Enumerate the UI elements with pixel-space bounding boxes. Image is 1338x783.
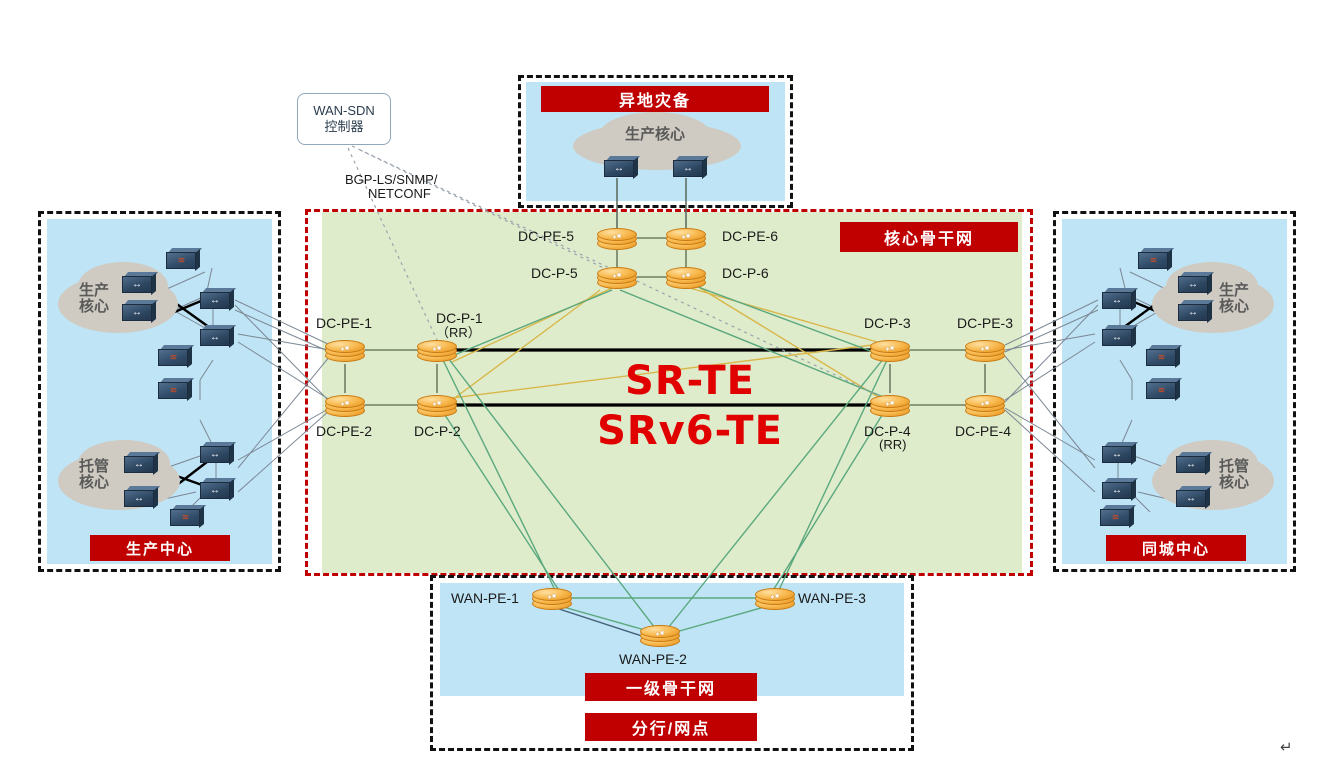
switch-left-agg-2: ↔ xyxy=(200,325,234,347)
switch-glyph: ↔ xyxy=(608,162,630,175)
switch-left-prod-2: ↔ xyxy=(122,300,156,322)
label-srv6-te: SRv6-TE xyxy=(545,408,835,454)
switch-left-agg-4: ↔ xyxy=(200,478,234,500)
switch-left-host-1: ↔ xyxy=(124,452,158,474)
banner-core-backbone: 核心骨干网 xyxy=(840,222,1018,252)
cloud-label-right-production-core: 生产 核心 xyxy=(1208,283,1260,315)
firewall-glyph: ≋ xyxy=(162,351,184,364)
cloud-label-line2: 核心 xyxy=(1219,298,1249,315)
router-glyph: ⁎⁕ xyxy=(333,398,357,409)
wan-sdn-controller[interactable]: WAN-SDN 控制器 xyxy=(297,93,391,145)
cloud-label-line2: 核心 xyxy=(79,474,109,491)
label-dc-p-2: DC-P-2 xyxy=(414,424,461,439)
label-dc-p-1-rr: （RR） xyxy=(436,326,481,340)
router-dc-pe-1[interactable]: ⁎⁕ xyxy=(325,336,365,364)
switch-glyph: ↔ xyxy=(126,278,148,291)
top-artifact xyxy=(300,8,304,23)
firewall-left-4: ≋ xyxy=(170,505,204,527)
router-glyph: ⁎⁕ xyxy=(425,398,449,409)
switch-glyph: ↔ xyxy=(204,294,226,307)
firewall-right-4: ≋ xyxy=(1100,505,1134,527)
router-glyph: ⁎⁕ xyxy=(540,591,564,602)
firewall-left-2: ≋ xyxy=(158,345,192,367)
firewall-glyph: ≋ xyxy=(1142,254,1164,267)
cloud-label-line1: 托管 xyxy=(1219,458,1249,475)
switch-left-agg-1: ↔ xyxy=(200,288,234,310)
firewall-right-1: ≋ xyxy=(1138,248,1172,270)
router-dc-p-2[interactable]: ⁎⁕ xyxy=(417,391,457,419)
switch-right-agg-4: ↔ xyxy=(1102,478,1136,500)
switch-glyph: ↔ xyxy=(126,306,148,319)
router-glyph: ⁎⁕ xyxy=(333,343,357,354)
firewall-right-2: ≋ xyxy=(1146,345,1180,367)
protocol-label-line2: NETCONF xyxy=(368,186,431,202)
switch-glyph: ↔ xyxy=(204,448,226,461)
switch-glyph: ↔ xyxy=(1106,484,1128,497)
router-glyph: ⁎⁕ xyxy=(878,343,902,354)
label-dc-pe-1: DC-PE-1 xyxy=(316,316,372,331)
switch-glyph: ↔ xyxy=(204,331,226,344)
label-dc-pe-3: DC-PE-3 xyxy=(957,316,1013,331)
firewall-glyph: ≋ xyxy=(1150,384,1172,397)
cloud-label-left-hosting-core: 托管 核心 xyxy=(68,459,120,491)
router-dc-p-4[interactable]: ⁎⁕ xyxy=(870,391,910,419)
banner-branch-outlet: 分行/网点 xyxy=(585,713,757,741)
router-dc-p-3[interactable]: ⁎⁕ xyxy=(870,336,910,364)
controller-title-line1: WAN-SDN xyxy=(313,103,375,119)
label-wan-pe-3: WAN-PE-3 xyxy=(798,591,866,606)
firewall-glyph: ≋ xyxy=(162,384,184,397)
router-wan-pe-1[interactable]: ⁎⁕ xyxy=(532,584,572,612)
cloud-label-line2: 核心 xyxy=(1219,474,1249,491)
router-glyph: ⁎⁕ xyxy=(674,270,698,281)
firewall-glyph: ≋ xyxy=(170,254,192,267)
firewall-glyph: ≋ xyxy=(174,511,196,524)
router-glyph: ⁎⁕ xyxy=(425,343,449,354)
switch-glyph: ↔ xyxy=(128,492,150,505)
cloud-label-line1: 生产 xyxy=(1219,282,1249,299)
switch-right-host-1: ↔ xyxy=(1176,452,1210,474)
label-dc-p-5: DC-P-5 xyxy=(531,266,578,281)
banner-metro-center: 同城中心 xyxy=(1106,535,1246,561)
switch-dr-2: ↔ xyxy=(673,156,707,178)
router-glyph: ⁎⁕ xyxy=(648,628,672,639)
firewall-left-1: ≋ xyxy=(166,248,200,270)
switch-glyph: ↔ xyxy=(1180,492,1202,505)
router-dc-p-5[interactable]: ⁎⁕ xyxy=(597,263,637,291)
switch-glyph: ↔ xyxy=(1106,294,1128,307)
label-dc-pe-2: DC-PE-2 xyxy=(316,424,372,439)
firewall-glyph: ≋ xyxy=(1104,511,1126,524)
banner-production-center: 生产中心 xyxy=(90,535,230,561)
router-glyph: ⁎⁕ xyxy=(878,398,902,409)
switch-glyph: ↔ xyxy=(1106,448,1128,461)
switch-glyph: ↔ xyxy=(1180,458,1202,471)
router-glyph: ⁎⁕ xyxy=(973,343,997,354)
cloud-label-line1: 生产 xyxy=(79,282,109,299)
switch-glyph: ↔ xyxy=(1182,306,1204,319)
router-dc-pe-6[interactable]: ⁎⁕ xyxy=(666,224,706,252)
firewall-left-3: ≋ xyxy=(158,378,192,400)
label-dc-pe-4: DC-PE-4 xyxy=(955,424,1011,439)
switch-right-prod-1: ↔ xyxy=(1178,272,1212,294)
pilcrow-mark: ↵ xyxy=(1280,738,1293,756)
switch-dr-1: ↔ xyxy=(604,156,638,178)
switch-glyph: ↔ xyxy=(1106,331,1128,344)
router-wan-pe-2[interactable]: ⁎⁕ xyxy=(640,621,680,649)
banner-remote-dr: 异地灾备 xyxy=(541,86,769,112)
switch-right-agg-3: ↔ xyxy=(1102,442,1136,464)
router-dc-pe-2[interactable]: ⁎⁕ xyxy=(325,391,365,419)
switch-glyph: ↔ xyxy=(204,484,226,497)
firewall-right-3: ≋ xyxy=(1146,378,1180,400)
controller-title-line2: 控制器 xyxy=(324,119,363,135)
switch-left-agg-3: ↔ xyxy=(200,442,234,464)
router-glyph: ⁎⁕ xyxy=(973,398,997,409)
label-dc-p-1: DC-P-1 xyxy=(436,311,483,326)
switch-right-agg-1: ↔ xyxy=(1102,288,1136,310)
cloud-label-dr-production-core: 生产核心 xyxy=(603,127,707,143)
router-dc-p-1[interactable]: ⁎⁕ xyxy=(417,336,457,364)
router-dc-pe-4[interactable]: ⁎⁕ xyxy=(965,391,1005,419)
label-dc-pe-5: DC-PE-5 xyxy=(518,229,574,244)
cloud-label-line1: 托管 xyxy=(79,458,109,475)
cloud-label-right-hosting-core: 托管 核心 xyxy=(1208,459,1260,491)
firewall-glyph: ≋ xyxy=(1150,351,1172,364)
router-glyph: ⁎⁕ xyxy=(674,231,698,242)
switch-glyph: ↔ xyxy=(1182,278,1204,291)
label-wan-pe-2: WAN-PE-2 xyxy=(619,652,687,667)
switch-right-prod-2: ↔ xyxy=(1178,300,1212,322)
switch-left-prod-1: ↔ xyxy=(122,272,156,294)
label-dc-p-6: DC-P-6 xyxy=(722,266,769,281)
router-dc-p-6[interactable]: ⁎⁕ xyxy=(666,263,706,291)
switch-right-agg-2: ↔ xyxy=(1102,325,1136,347)
network-diagram: 异地灾备 生产核心 ↔ ↔ 核心骨干网 SR-TE SRv6-TE ⁎⁕ ⁎⁕ … xyxy=(0,0,1338,783)
router-glyph: ⁎⁕ xyxy=(605,270,629,281)
banner-primary-backbone: 一级骨干网 xyxy=(585,673,757,701)
router-wan-pe-3[interactable]: ⁎⁕ xyxy=(755,584,795,612)
cloud-label-left-production-core: 生产 核心 xyxy=(68,283,120,315)
router-glyph: ⁎⁕ xyxy=(763,591,787,602)
router-dc-pe-5[interactable]: ⁎⁕ xyxy=(597,224,637,252)
label-wan-pe-1: WAN-PE-1 xyxy=(451,591,519,606)
label-dc-pe-6: DC-PE-6 xyxy=(722,229,778,244)
label-sr-te: SR-TE xyxy=(565,358,815,404)
switch-left-host-2: ↔ xyxy=(124,486,158,508)
label-dc-p-4-rr: (RR) xyxy=(879,438,906,452)
router-glyph: ⁎⁕ xyxy=(605,231,629,242)
label-dc-p-3: DC-P-3 xyxy=(864,316,911,331)
switch-glyph: ↔ xyxy=(128,458,150,471)
cloud-label-line2: 核心 xyxy=(79,298,109,315)
switch-right-host-2: ↔ xyxy=(1176,486,1210,508)
switch-glyph: ↔ xyxy=(677,162,699,175)
router-dc-pe-3[interactable]: ⁎⁕ xyxy=(965,336,1005,364)
